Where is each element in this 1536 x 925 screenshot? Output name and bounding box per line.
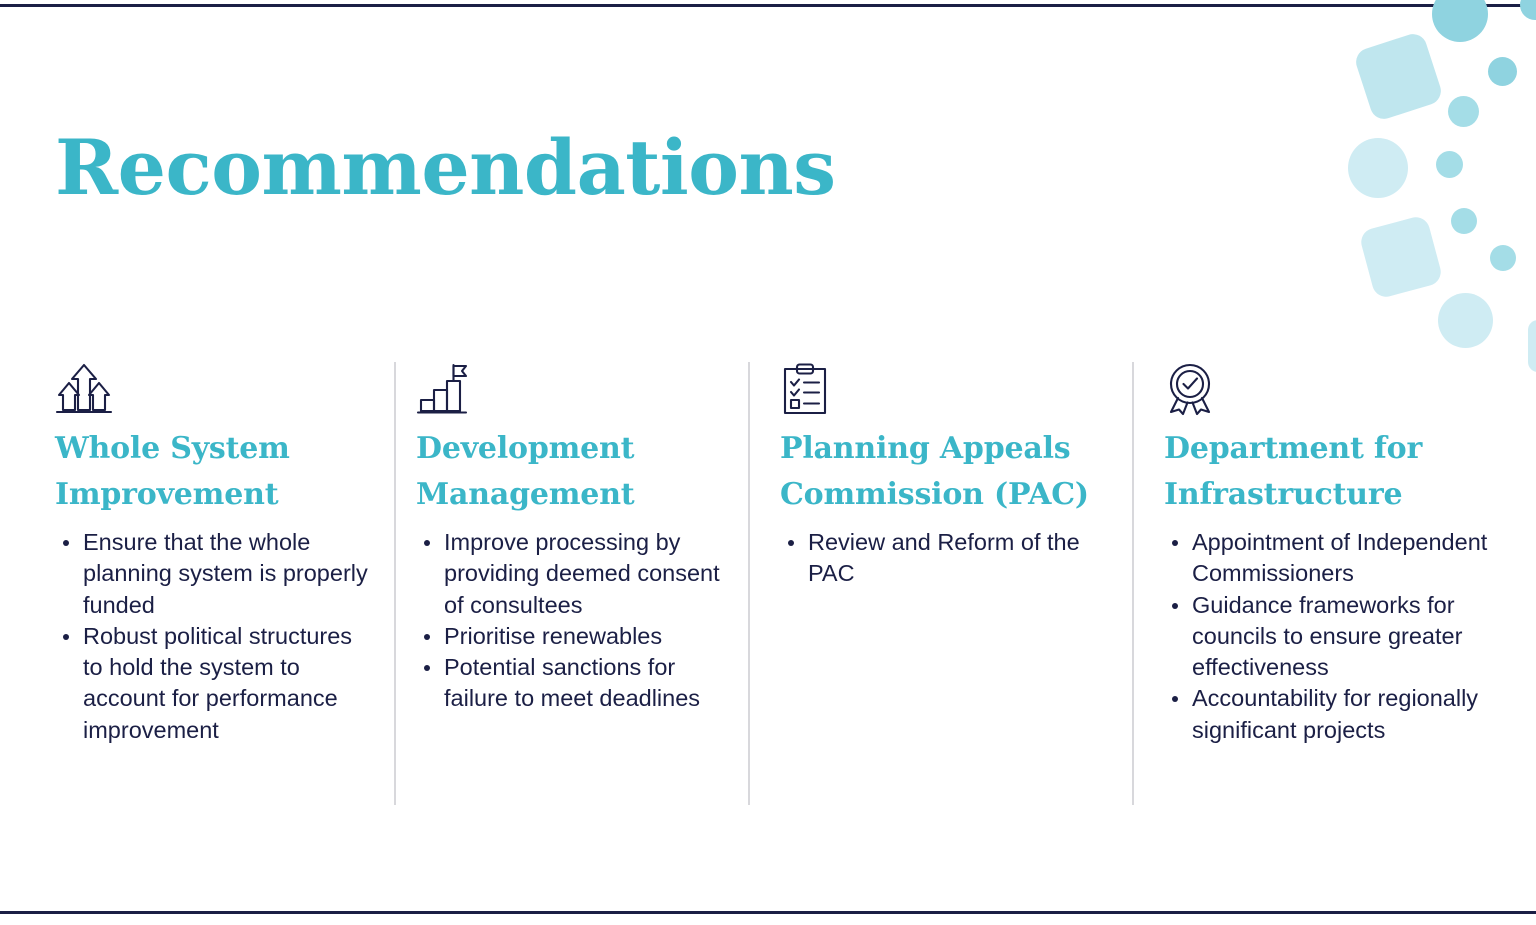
column-title: Planning Appeals Commission (PAC) [780,426,1116,517]
bullet-list: Improve processing by providing deemed c… [416,527,732,715]
recommendation-column: Development Management Improve processin… [396,362,750,822]
growth-arrows-icon [55,362,378,418]
decor-circle [1436,151,1463,178]
column-title: Whole System Improvement [55,426,378,517]
decor-circle [1451,208,1477,234]
decor-circle [1488,57,1517,86]
decor-circle [1438,293,1493,348]
bullet-list: Ensure that the whole planning system is… [55,527,378,746]
bullet-item: Potential sanctions for failure to meet … [416,652,732,715]
award-ribbon-icon [1164,362,1518,418]
decor-circle [1348,138,1408,198]
recommendation-column: Whole System Improvement Ensure that the… [0,362,396,822]
recommendation-columns: Whole System Improvement Ensure that the… [0,362,1536,822]
recommendation-column: Planning Appeals Commission (PAC) Review… [750,362,1134,822]
recommendation-column: Department for Infrastructure Appointmen… [1134,362,1536,822]
bullet-item: Robust political structures to hold the … [55,621,378,746]
decorative-shapes [1330,0,1536,380]
decor-square [1358,214,1444,300]
bar-steps-flag-icon [416,362,732,418]
decor-circle [1448,96,1479,127]
column-title: Department for Infrastructure [1164,426,1518,517]
decor-circle [1520,0,1536,20]
bullet-item: Review and Reform of the PAC [780,527,1116,590]
bullet-item: Prioritise renewables [416,621,732,652]
bullet-item: Accountability for regionally significan… [1164,683,1518,746]
bullet-item: Guidance frameworks for councils to ensu… [1164,590,1518,684]
top-rule [0,4,1536,7]
bullet-list: Appointment of Independent Commissioners… [1164,527,1518,746]
bullet-list: Review and Reform of the PAC [780,527,1116,590]
clipboard-checklist-icon [780,362,1116,418]
slide: Recommendations Whole System Improvement… [0,0,1536,925]
decor-square [1353,31,1445,123]
bottom-rule [0,911,1536,914]
bullet-item: Appointment of Independent Commissioners [1164,527,1518,590]
bullet-item: Ensure that the whole planning system is… [55,527,378,621]
column-title: Development Management [416,426,732,517]
decor-circle [1490,245,1516,271]
bullet-item: Improve processing by providing deemed c… [416,527,732,621]
page-title: Recommendations [55,128,836,208]
